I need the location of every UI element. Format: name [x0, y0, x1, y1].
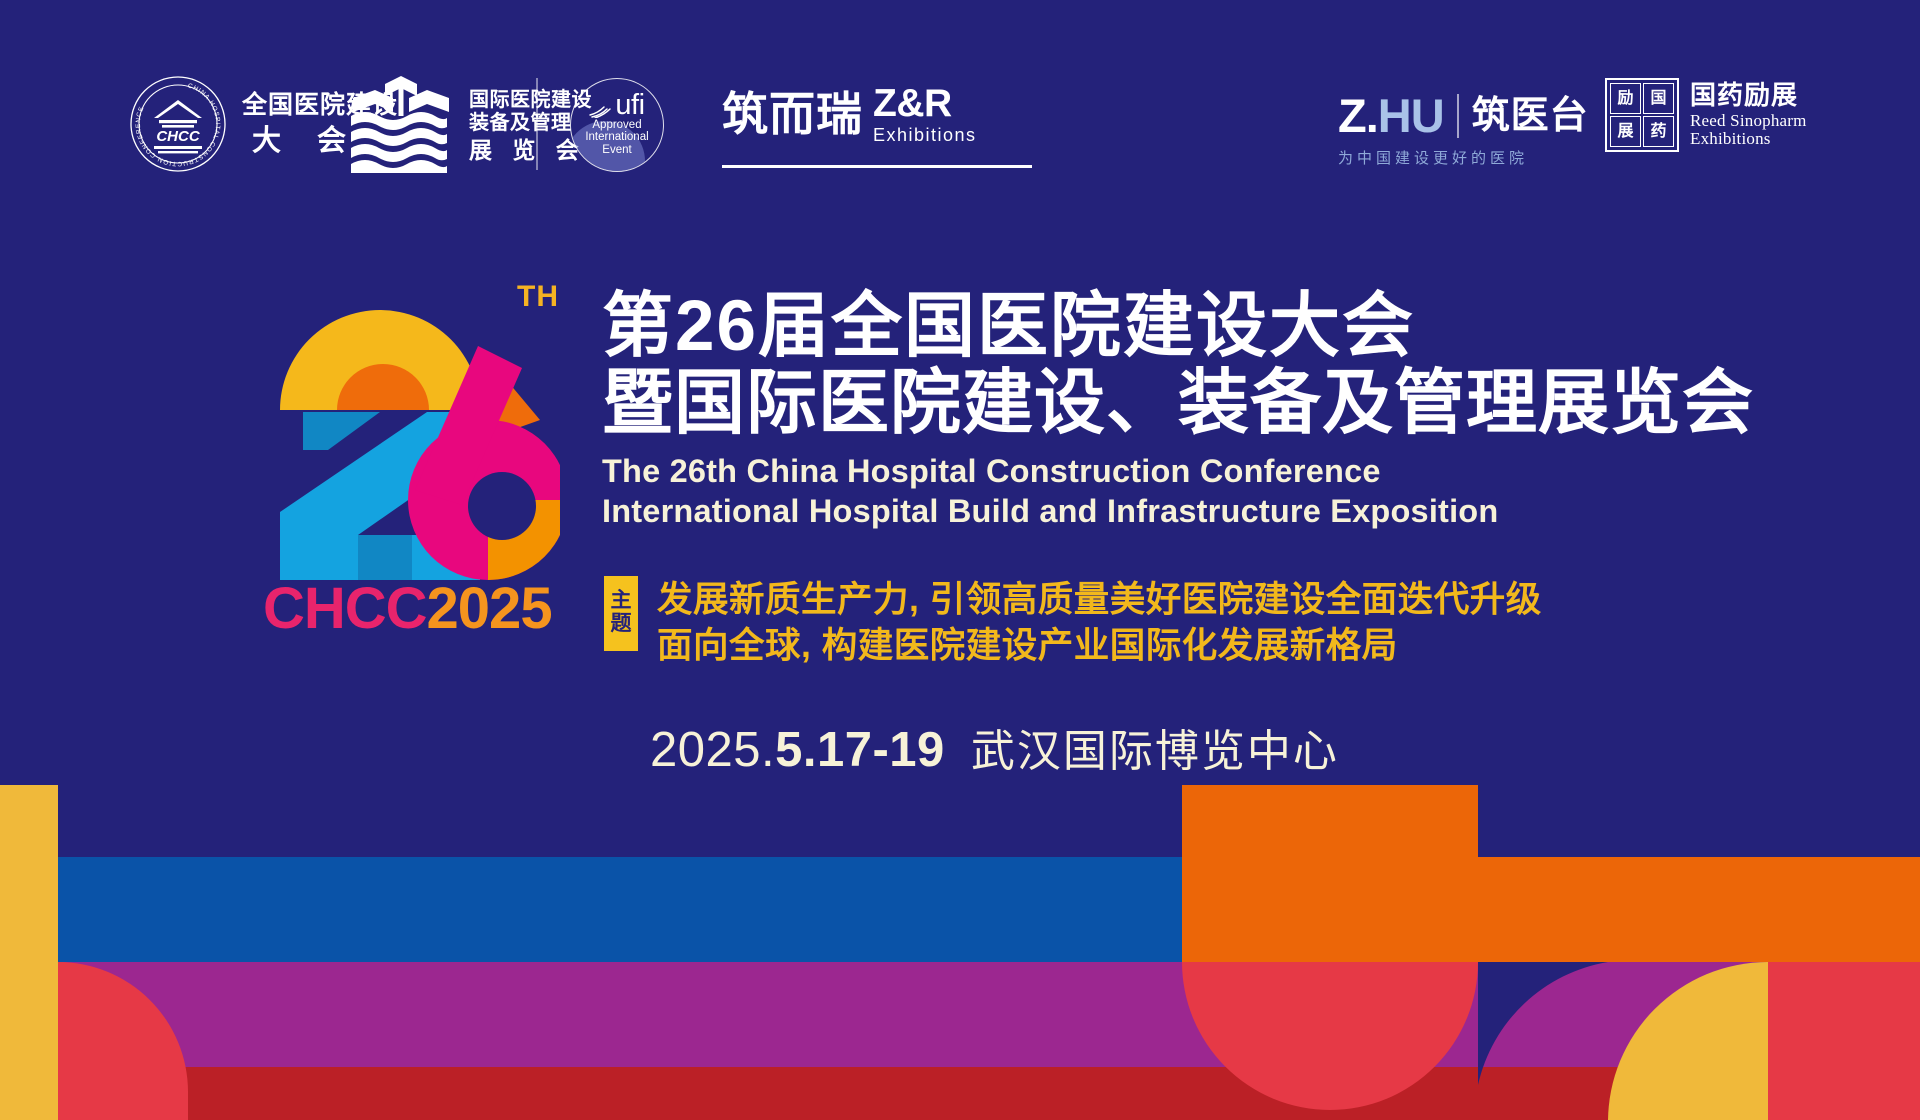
mark-superscript-th: TH [517, 280, 559, 314]
logo-bar: CHINA HOSPITAL CONSTRUCTION CONFERENCE C… [0, 0, 1920, 190]
zhu-wordmark: Z.HU [1338, 92, 1444, 139]
zr-chinese-name: 筑而瑞 [722, 91, 863, 137]
theme-line1: 发展新质生产力, 引领高质量美好医院建设全面迭代升级 [657, 576, 1542, 622]
venue-name: 武汉国际博览中心 [971, 727, 1339, 776]
conference-poster: CHINA HOSPITAL CONSTRUCTION CONFERENCE C… [0, 0, 1920, 1120]
theme-line2: 面向全球, 构建医院建设产业国际化发展新格局 [657, 622, 1542, 668]
exhibition-logo: 国际医院建设 装备及管理 展 览 会 [345, 74, 592, 179]
ufi-sub-line2: International [585, 131, 648, 144]
ufi-sub-line3: Event [585, 144, 648, 157]
svg-text:CHCC: CHCC [156, 128, 200, 145]
chcc-26-logo-mark [240, 250, 560, 580]
ufi-sub-line1: Approved [585, 119, 648, 132]
zhu-yitai-logo: Z.HU 筑医台 为中国建设更好的医院 [1338, 92, 1589, 168]
wordmark-chcc: CHCC [263, 576, 427, 641]
zr-exhibitions-logo: 筑而瑞 Z&R Exhibitions [722, 84, 977, 145]
zr-underline [722, 165, 1032, 168]
wordmark-year: 2025 [427, 576, 552, 641]
reed-seal-char-4: 药 [1643, 116, 1674, 147]
date-venue-line: 2025.5.17-19武汉国际博览中心 [650, 715, 1339, 779]
zhu-divider [1457, 94, 1459, 138]
date-days: 5.17-19 [775, 723, 945, 777]
chinese-title-line2: 暨国际医院建设、装备及管理展览会 [602, 365, 1702, 442]
reed-seal-char-1: 励 [1610, 83, 1641, 114]
reed-seal-char-2: 国 [1643, 83, 1674, 114]
theme-badge-char1: 主 [611, 590, 632, 613]
headline-block: 第26届全国医院建设大会 暨国际医院建设、装备及管理展览会 The 26th C… [602, 288, 1702, 530]
ufi-approved-badge: ufi Approved International Event [570, 78, 664, 172]
reed-logo-text: 国药励展 Reed Sinopharm Exhibitions [1690, 82, 1807, 148]
chcc-2025-wordmark: CHCC2025 [263, 580, 552, 638]
theme-text: 发展新质生产力, 引领高质量美好医院建设全面迭代升级 面向全球, 构建医院建设产… [657, 576, 1542, 668]
ufi-swoosh-icon [589, 102, 613, 118]
theme-block: 主 题 发展新质生产力, 引领高质量美好医院建设全面迭代升级 面向全球, 构建医… [604, 576, 1542, 668]
english-title-line2: International Hospital Build and Infrast… [602, 493, 1702, 530]
reed-chinese-name: 国药励展 [1690, 82, 1807, 109]
reed-english-line1: Reed Sinopharm [1690, 112, 1807, 130]
zr-english-main: Z&R [873, 84, 977, 125]
ufi-wordmark: ufi [615, 93, 644, 118]
theme-badge: 主 题 [604, 576, 638, 651]
zhu-mark-hu: HU [1378, 89, 1444, 142]
chcc-seal-icon: CHINA HOSPITAL CONSTRUCTION CONFERENCE C… [128, 74, 228, 174]
english-title-line1: The 26th China Hospital Construction Con… [602, 453, 1702, 490]
theme-badge-char2: 题 [611, 613, 632, 636]
zr-english-block: Z&R Exhibitions [873, 84, 977, 145]
reed-sinopharm-logo: 励 国 展 药 国药励展 Reed Sinopharm Exhibitions [1605, 78, 1807, 152]
ufi-subtext: Approved International Event [585, 119, 648, 158]
reed-seal-char-3: 展 [1610, 116, 1641, 147]
date-year: 2025. [650, 723, 775, 777]
svg-text:CHINA HOSPITAL CONSTRUCTION CO: CHINA HOSPITAL CONSTRUCTION CONFERENCE [135, 82, 221, 167]
chinese-title-line1: 第26届全国医院建设大会 [602, 288, 1702, 365]
decorative-bottom-band [0, 785, 1920, 1120]
logo-divider [536, 78, 538, 170]
zr-english-sub: Exhibitions [873, 126, 977, 145]
reed-english-line2: Exhibitions [1690, 130, 1807, 148]
reed-seal-icon: 励 国 展 药 [1605, 78, 1679, 152]
zhu-mark-z: Z. [1338, 89, 1378, 142]
zhu-chinese-name: 筑医台 [1472, 97, 1589, 135]
snowflake-building-icon [345, 74, 457, 179]
zhu-tagline: 为中国建设更好的医院 [1338, 147, 1528, 168]
